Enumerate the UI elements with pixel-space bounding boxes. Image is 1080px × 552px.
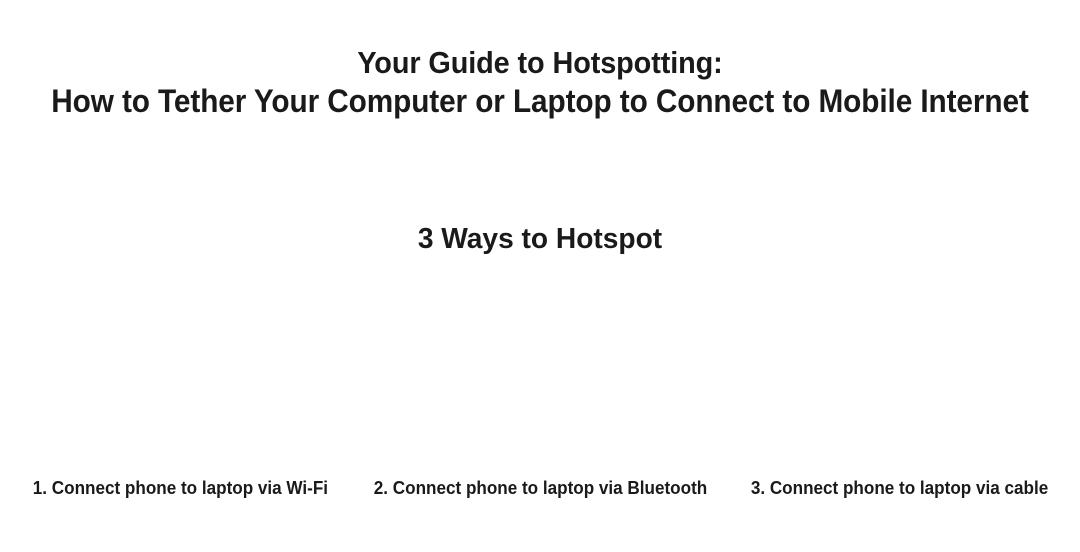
section-heading: 3 Ways to Hotspot (16, 222, 1064, 256)
step-figure-bluetooth (390, 287, 690, 477)
page-title-line-1: Your Guide to Hotspotting: (38, 44, 1042, 82)
steps-row: 1. Connect phone to laptop via Wi-Fi 2. … (0, 280, 1080, 520)
step-caption-2: 2. Connect phone to laptop via Bluetooth (373, 477, 706, 520)
step-caption-1: 1. Connect phone to laptop via Wi-Fi (32, 477, 327, 520)
step-caption-3: 3. Connect phone to laptop via cable (751, 477, 1048, 520)
step-item-1: 1. Connect phone to laptop via Wi-Fi (0, 280, 360, 520)
step-figure-wifi (30, 287, 330, 477)
step-item-3: 3. Connect phone to laptop via cable (720, 280, 1080, 520)
page-title: Your Guide to Hotspotting: How to Tether… (0, 44, 1080, 120)
step-figure-cable (750, 287, 1050, 477)
step-item-2: 2. Connect phone to laptop via Bluetooth (360, 280, 720, 520)
page-title-line-2: How to Tether Your Computer or Laptop to… (38, 82, 1042, 120)
page-canvas: Your Guide to Hotspotting: How to Tether… (0, 0, 1080, 552)
